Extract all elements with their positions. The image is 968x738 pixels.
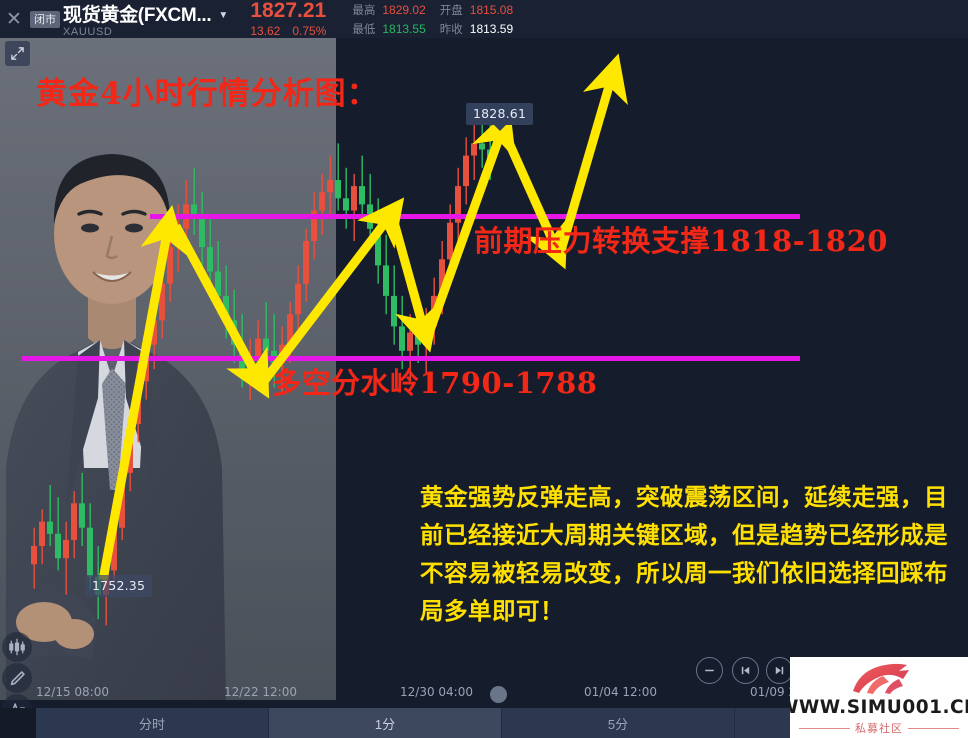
time-label: 12/15 08:00 <box>36 685 109 699</box>
watermark-subtitle-row: 私募社区 <box>799 720 959 736</box>
resistance-label: 前期压力转换支撑1818-1820 <box>474 218 888 260</box>
skip-backward-icon[interactable] <box>732 657 759 684</box>
stat-open: 开盘 1815.08 <box>440 2 513 18</box>
last-price: 1827.21 <box>250 0 326 22</box>
support-label: 多空分水岭1790-1788 <box>272 360 597 402</box>
tab-5min[interactable]: 5分 <box>502 708 735 738</box>
stat-label: 开盘 <box>440 2 463 18</box>
instrument-code: XAUUSD <box>63 26 228 38</box>
time-label: 01/04 12:00 <box>584 685 657 699</box>
stat-high: 最高 1829.02 <box>352 2 425 18</box>
instrument-selector[interactable]: 现货黄金(FXCM... ▼ XAUUSD <box>63 0 228 38</box>
watermark-subtitle: 私募社区 <box>855 720 903 736</box>
stat-prev-close: 昨收 1813.59 <box>440 21 513 37</box>
expand-arrows-icon[interactable] <box>5 41 30 66</box>
analysis-title: 黄金4小时行情分析图： <box>36 68 379 113</box>
watermark-url: WWW.SIMU001.CN <box>790 697 968 718</box>
tabbar-spacer <box>0 708 36 738</box>
status-badge: 闭市 <box>30 11 60 28</box>
price-block: 1827.21 13.62 0.75% <box>250 0 326 37</box>
change-percent: 0.75% <box>292 24 326 38</box>
header-bar: ✕ 闭市 现货黄金(FXCM... ▼ XAUUSD 1827.21 13.62… <box>0 0 968 38</box>
stats-column-2: 开盘 1815.08 昨收 1813.59 <box>440 2 513 37</box>
divider-left <box>799 728 850 729</box>
tab-1min[interactable]: 1分 <box>269 708 502 738</box>
stat-low: 最低 1813.55 <box>352 21 425 37</box>
price-tag-high: 1828.61 <box>466 103 533 125</box>
instrument-name: 现货黄金(FXCM... <box>63 0 211 27</box>
time-label: 12/22 12:00 <box>224 685 297 699</box>
site-watermark: WWW.SIMU001.CN 私募社区 <box>790 657 968 738</box>
candlestick-icon[interactable] <box>2 632 32 662</box>
change-absolute: 13.62 <box>250 24 280 38</box>
price-tag-low: 1752.35 <box>85 575 152 597</box>
chevron-down-icon[interactable]: ▼ <box>218 10 228 21</box>
stat-label: 最低 <box>352 21 375 37</box>
stat-label: 昨收 <box>440 21 463 37</box>
stat-value: 1813.59 <box>470 22 513 36</box>
stat-value: 1813.55 <box>382 22 425 36</box>
commentary-text: 黄金强势反弹走高，突破震荡区间，延续走强，目前已经接近大周期关键区域，但是趋势已… <box>420 478 960 630</box>
stats-block: 最高 1829.02 最低 1813.55 开盘 1815.08 昨收 1813… <box>352 2 527 37</box>
time-label: 12/30 04:00 <box>400 685 473 699</box>
axis-drag-handle[interactable] <box>490 686 507 703</box>
divider-right <box>908 728 959 729</box>
stat-value: 1829.02 <box>382 3 425 17</box>
tab-fenshi[interactable]: 分时 <box>36 708 269 738</box>
skip-forward-icon[interactable] <box>766 657 793 684</box>
stat-label: 最高 <box>352 2 375 18</box>
close-icon[interactable]: ✕ <box>0 0 28 38</box>
stat-value: 1815.08 <box>470 3 513 17</box>
chart-app-window: ✕ 闭市 现货黄金(FXCM... ▼ XAUUSD 1827.21 13.62… <box>0 0 968 738</box>
red-arrow-logo-icon <box>837 659 921 699</box>
minus-icon[interactable] <box>696 657 723 684</box>
stats-column-1: 最高 1829.02 最低 1813.55 <box>352 2 425 37</box>
